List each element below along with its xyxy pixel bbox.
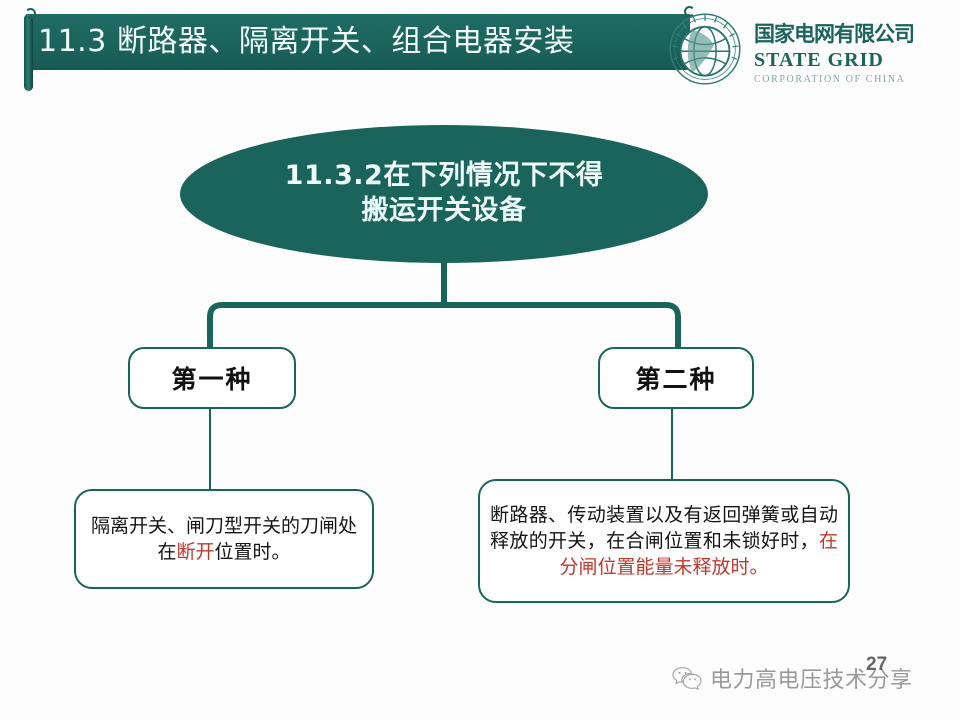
state-grid-logo-text: 国家电网有限公司 STATE GRID CORPORATION OF CHINA	[754, 18, 954, 85]
branch-detail-1-suffix: 位置时。	[215, 541, 291, 563]
branch-label-1: 第一种	[171, 360, 252, 396]
banner-pole-decoration	[24, 14, 33, 91]
page-number: 27	[866, 654, 887, 676]
branch-detail-1-highlight: 断开	[176, 541, 214, 563]
branch-label-box-1: 第一种	[128, 347, 296, 409]
company-name-cn: 国家电网有限公司	[754, 18, 954, 48]
root-node-line-1: 11.3.2在下列情况下不得	[285, 159, 604, 194]
root-node-line-2: 搬运开关设备	[285, 194, 604, 229]
branch-detail-text-1: 隔离开关、闸刀型开关的刀闸处在断开位置时。	[86, 513, 362, 565]
branch-detail-text-2: 断路器、传动装置以及有返回弹簧或自动释放的开关，在合闸位置和未锁好时，在分闸位置…	[490, 502, 838, 581]
wechat-icon	[672, 665, 702, 691]
company-name-sub: CORPORATION OF CHINA	[754, 74, 954, 85]
state-grid-logo: 国家电网有限公司 STATE GRID CORPORATION OF CHINA	[668, 8, 960, 94]
company-name-en: STATE GRID	[754, 49, 954, 72]
page-title: 11.3 断路器、隔离开关、组合电器安装	[38, 14, 688, 70]
branch-detail-2-prefix: 断路器、传动装置以及有返回弹簧或自动释放的开关，在合闸位置和未锁好时，	[490, 504, 838, 552]
root-node-text: 11.3.2在下列情况下不得 搬运开关设备	[285, 159, 604, 228]
state-grid-globe-icon	[668, 12, 742, 86]
branch-label-box-2: 第二种	[598, 347, 754, 409]
branch-label-2: 第二种	[635, 360, 716, 396]
slide-canvas: 11.3 断路器、隔离开关、组合电器安装	[0, 0, 960, 720]
banner-curl-left-icon	[24, 7, 36, 19]
title-banner: 11.3 断路器、隔离开关、组合电器安装	[0, 0, 720, 100]
root-node-ellipse: 11.3.2在下列情况下不得 搬运开关设备	[180, 125, 708, 263]
branch-detail-box-2: 断路器、传动装置以及有返回弹簧或自动释放的开关，在合闸位置和未锁好时，在分闸位置…	[478, 479, 850, 603]
branch-detail-box-1: 隔离开关、闸刀型开关的刀闸处在断开位置时。	[74, 489, 374, 589]
